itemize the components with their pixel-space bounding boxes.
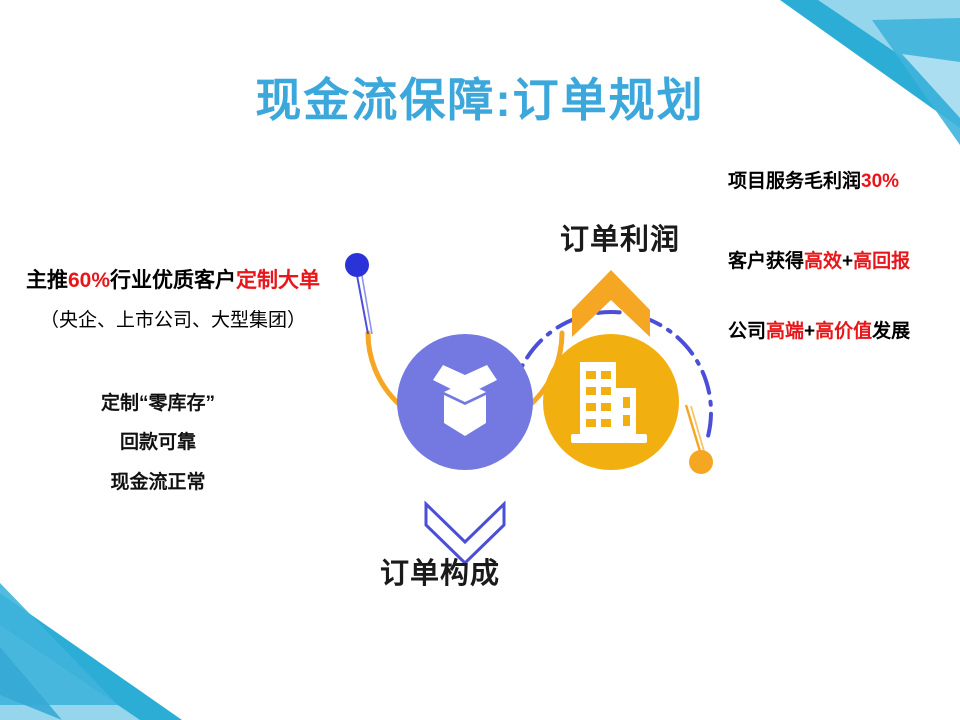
text-run: 高回报	[853, 251, 910, 272]
right-benefit-line: 公司高端+高价值发展	[728, 316, 910, 343]
text-run: 主推	[26, 269, 68, 292]
text-run: 30%	[861, 171, 899, 192]
orange-endpoint-dot	[689, 450, 713, 474]
left-point-item: 回款可靠	[8, 427, 308, 454]
chevron-up-icon	[572, 270, 650, 337]
orange-dot-tail	[686, 405, 702, 458]
left-point-item: 定制“零库存”	[8, 388, 308, 415]
text-run: 客户获得	[728, 251, 804, 272]
ribbon-shape	[0, 583, 118, 705]
text-run: 高价值	[815, 321, 872, 342]
text-run: +	[804, 321, 815, 342]
page-title: 现金流保障:订单规划	[0, 64, 960, 130]
ribbon-shape	[0, 647, 62, 720]
text-run: +	[842, 251, 853, 272]
text-run: 发展	[872, 321, 910, 342]
left-headline-rich: 主推60%行业优质客户定制大单	[26, 269, 320, 292]
right-benefit-line: 项目服务毛利润30%	[728, 166, 899, 193]
order-composition-label: 订单构成	[340, 550, 540, 592]
slide-canvas: 现金流保障:订单规划 主推60%行业优质客户定制大单 （央企、上市公司、大型集团…	[0, 0, 960, 720]
text-run: 定制大单	[236, 269, 320, 292]
right-benefit-rich: 客户获得高效+高回报	[728, 251, 910, 272]
left-subline: （央企、上市公司、大型集团）	[8, 305, 338, 332]
blue-endpoint-dot	[345, 253, 369, 277]
text-run: 项目服务毛利润	[728, 171, 861, 192]
left-point-item: 现金流正常	[8, 467, 308, 494]
text-run: 高效	[804, 251, 842, 272]
text-run: 高端	[766, 321, 804, 342]
ribbon-shape	[0, 593, 182, 720]
left-headline: 主推60%行业优质客户定制大单	[8, 264, 338, 294]
right-benefit-rich: 公司高端+高价值发展	[728, 321, 910, 342]
text-run: 行业优质客户	[110, 269, 236, 292]
ribbon-shape	[0, 625, 140, 720]
order-cycle-diagram	[330, 210, 730, 600]
corner-decoration-bottom-left	[0, 575, 300, 720]
order-profit-label: 订单利润	[520, 216, 720, 258]
text-run: 公司	[728, 321, 766, 342]
right-benefit-line: 客户获得高效+高回报	[728, 246, 910, 273]
text-run: 60%	[68, 269, 110, 292]
right-benefit-rich: 项目服务毛利润30%	[728, 171, 899, 192]
